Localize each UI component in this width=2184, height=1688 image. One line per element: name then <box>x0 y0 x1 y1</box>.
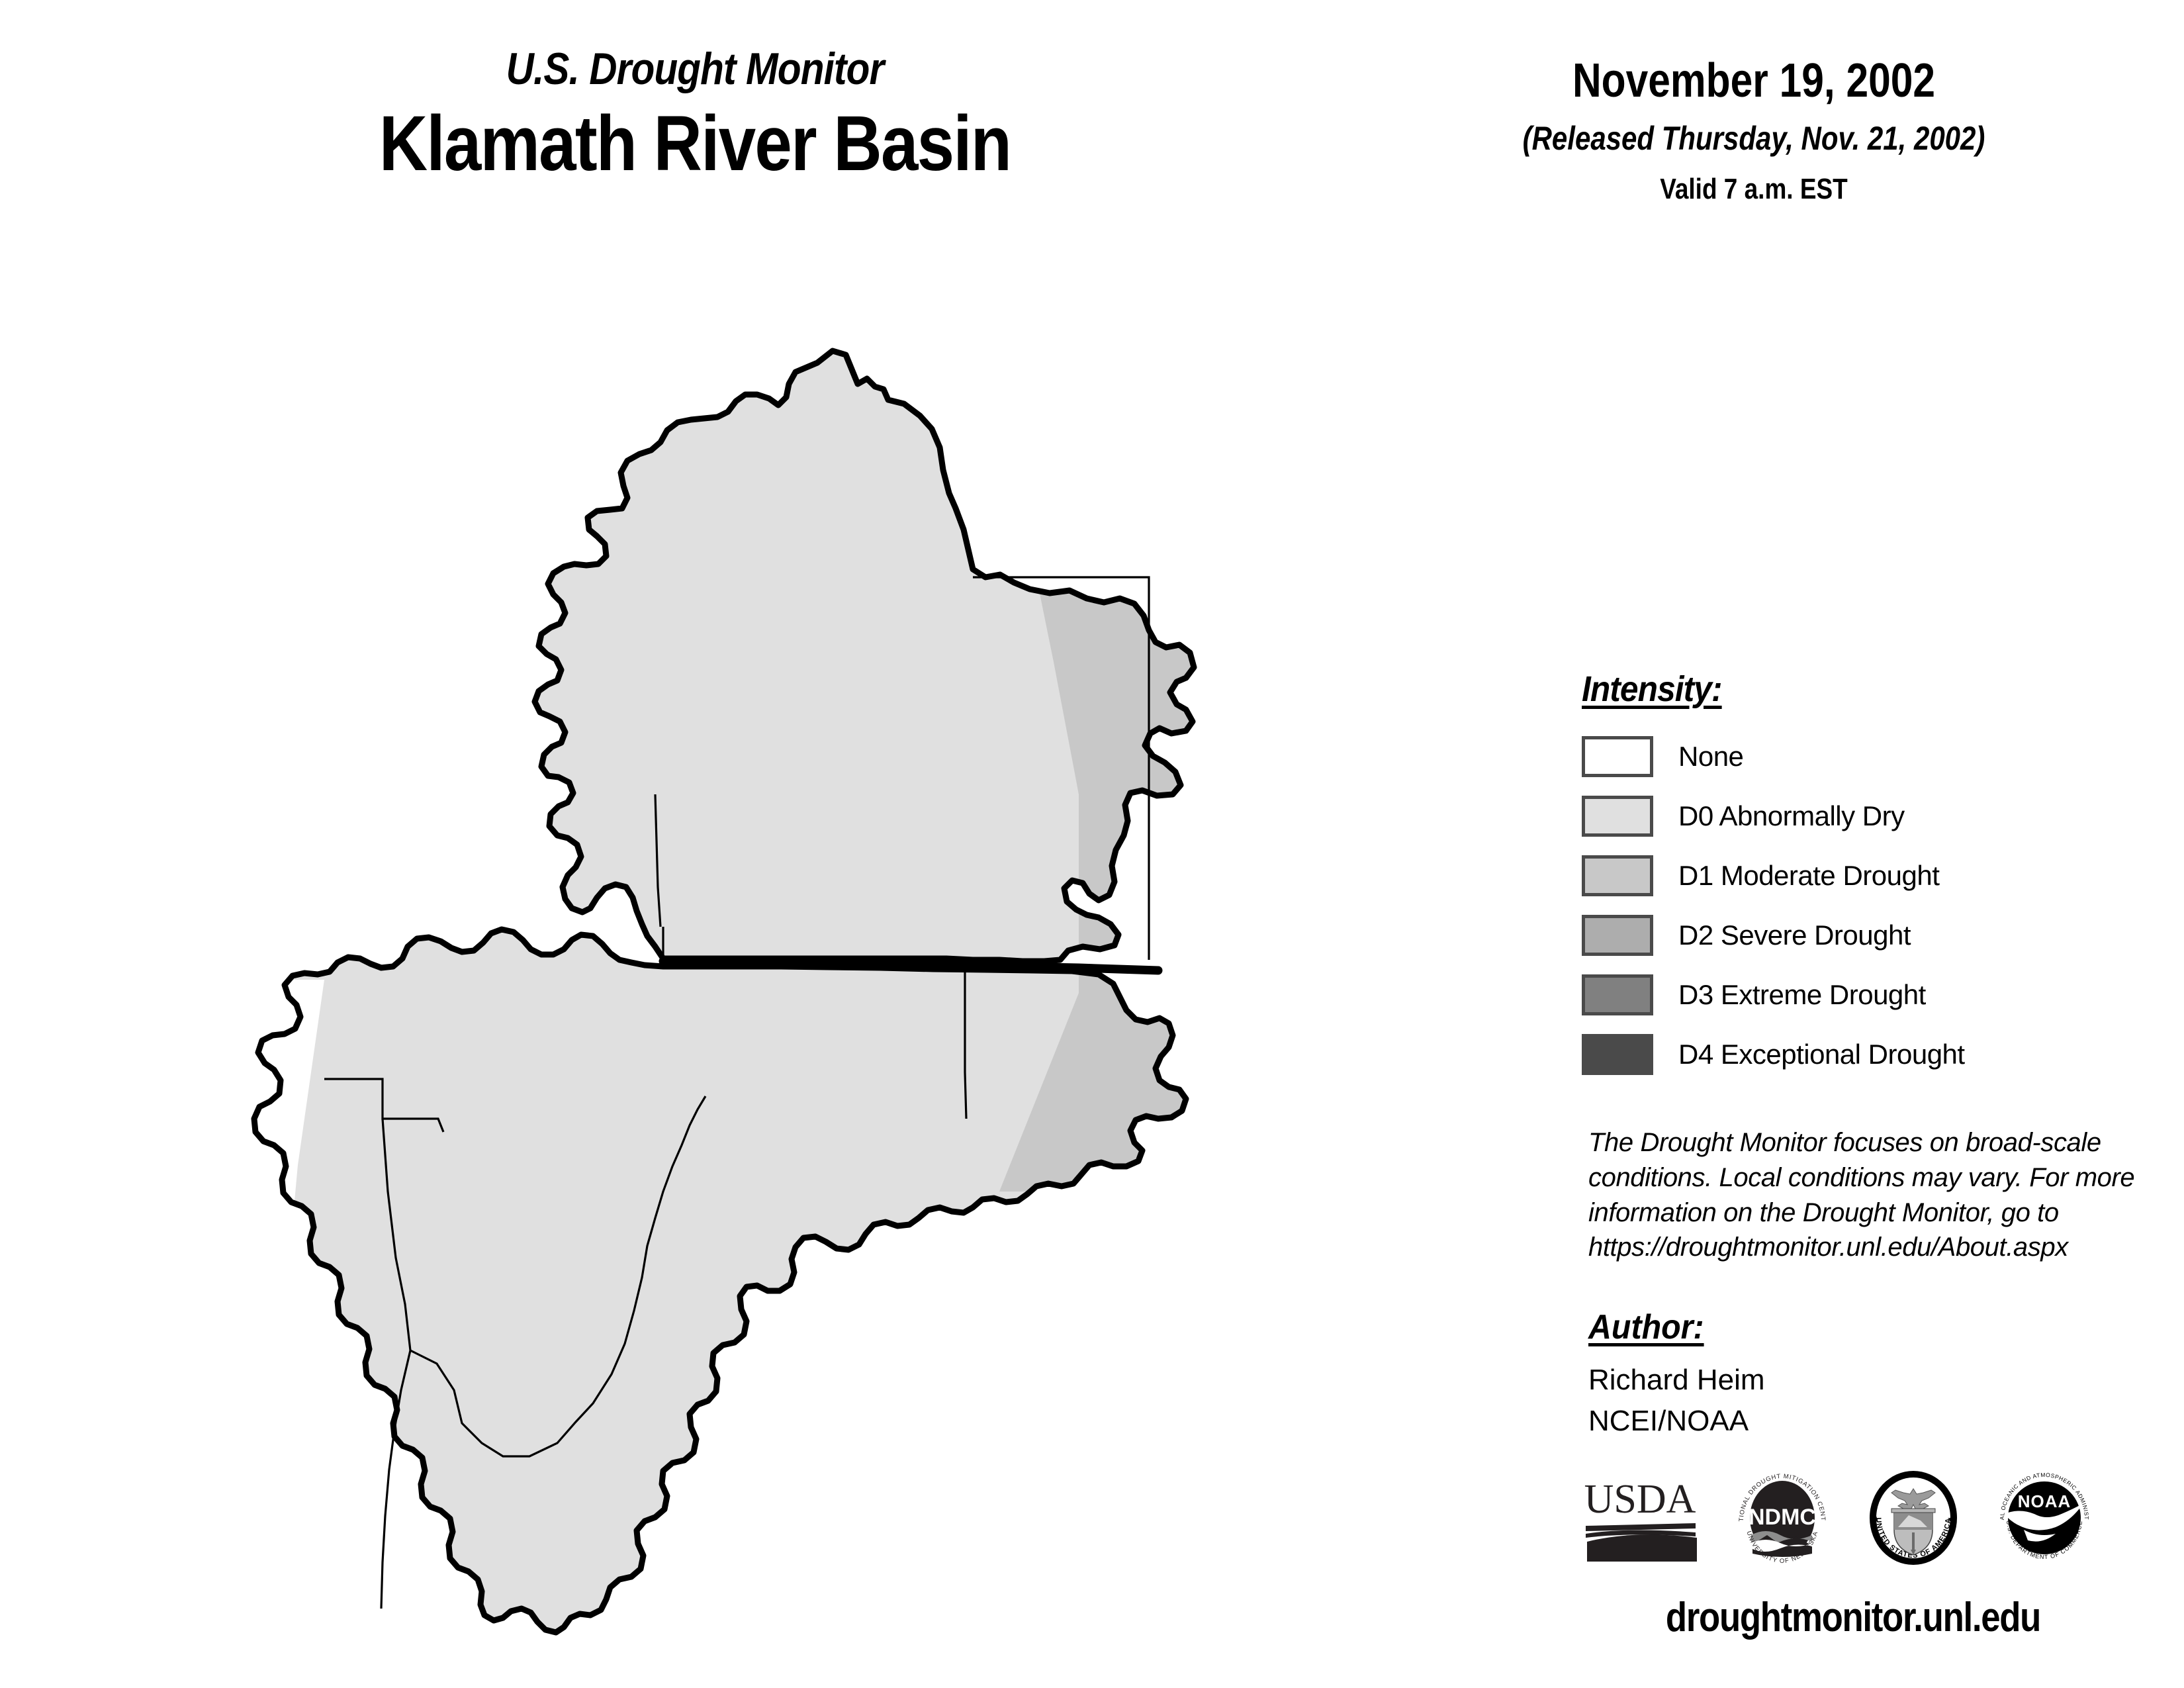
swatch-d4 <box>1582 1034 1653 1075</box>
drought-map[interactable] <box>218 331 1443 1648</box>
svg-text:USDA: USDA <box>1584 1477 1696 1522</box>
swatch-d2 <box>1582 915 1653 956</box>
swatch-d0 <box>1582 796 1653 837</box>
svg-text:NDMC: NDMC <box>1749 1505 1816 1530</box>
noaa-logo[interactable]: NOAA NATIONAL OCEANIC AND ATMOSPHERIC AD… <box>1995 1466 2094 1572</box>
legend-row-d0[interactable]: D0 Abnormally Dry <box>1582 786 2098 846</box>
legend-row-d4[interactable]: D4 Exceptional Drought <box>1582 1025 2098 1084</box>
ndmc-logo-icon: NDMC NATIONAL DROUGHT MITIGATION CENTER … <box>1733 1466 1832 1569</box>
legend: Intensity: None D0 Abnormally Dry D1 Mod… <box>1582 669 2098 1084</box>
legend-label-d0: D0 Abnormally Dry <box>1678 800 1905 832</box>
release-date: November 19, 2002 <box>1476 57 2032 105</box>
legend-row-d2[interactable]: D2 Severe Drought <box>1582 906 2098 965</box>
legend-label-d4: D4 Exceptional Drought <box>1678 1039 1965 1070</box>
svg-text:★: ★ <box>1947 1514 1955 1524</box>
usda-logo[interactable]: USDA <box>1582 1472 1701 1568</box>
date-block: November 19, 2002 (Released Thursday, No… <box>1423 57 2085 204</box>
disclaimer-line-2: conditions. Local conditions may vary. F… <box>1588 1160 2184 1196</box>
author-name: Richard Heim <box>1588 1362 2118 1399</box>
department-of-commerce-logo-icon: DEPARTMENT OF COMMERCE UNITED STATES OF … <box>1864 1466 1963 1569</box>
klamath-basin-map-svg[interactable] <box>218 331 1443 1648</box>
author-affiliation: NCEI/NOAA <box>1588 1403 2118 1440</box>
legend-label-d1: D1 Moderate Drought <box>1678 860 1939 892</box>
swatch-none <box>1582 736 1653 777</box>
author-block: Author: Richard Heim NCEI/NOAA <box>1588 1307 2118 1440</box>
svg-text:★: ★ <box>1872 1514 1880 1524</box>
legend-title: Intensity: <box>1582 669 1722 710</box>
usda-logo-icon: USDA <box>1582 1472 1701 1564</box>
disclaimer-text: The Drought Monitor focuses on broad-sca… <box>1588 1125 2184 1265</box>
disclaimer-line-3: information on the Drought Monitor, go t… <box>1588 1196 2184 1231</box>
legend-row-d1[interactable]: D1 Moderate Drought <box>1582 846 2098 906</box>
ndmc-logo[interactable]: NDMC NATIONAL DROUGHT MITIGATION CENTER … <box>1733 1466 1832 1572</box>
author-heading: Author: <box>1588 1307 1704 1347</box>
legend-label-d3: D3 Extreme Drought <box>1678 979 1926 1011</box>
legend-row-none[interactable]: None <box>1582 727 2098 786</box>
valid-time: Valid 7 a.m. EST <box>1476 175 2032 204</box>
partner-logos: USDA NDMC NATIONAL DROUGHT MITIGATION CE… <box>1582 1453 2111 1585</box>
title-block: U.S. Drought Monitor Klamath River Basin <box>199 46 1191 185</box>
swatch-d1 <box>1582 855 1653 896</box>
disclaimer-link[interactable]: https://droughtmonitor.unl.edu/About.asp… <box>1588 1230 2184 1265</box>
swatch-d3 <box>1582 974 1653 1015</box>
none-coastal-strip <box>218 980 324 1648</box>
release-note: (Released Thursday, Nov. 21, 2002) <box>1476 122 2032 155</box>
legend-row-d3[interactable]: D3 Extreme Drought <box>1582 965 2098 1025</box>
disclaimer-line-1: The Drought Monitor focuses on broad-sca… <box>1588 1125 2184 1160</box>
legend-label-none: None <box>1678 741 1743 773</box>
svg-text:NOAA: NOAA <box>2018 1491 2071 1511</box>
page-title: Klamath River Basin <box>268 103 1122 185</box>
legend-label-d2: D2 Severe Drought <box>1678 919 1911 951</box>
doc-logo[interactable]: DEPARTMENT OF COMMERCE UNITED STATES OF … <box>1864 1466 1963 1572</box>
footer-url[interactable]: droughtmonitor.unl.edu <box>1623 1594 2084 1641</box>
drought-monitor-supertitle: U.S. Drought Monitor <box>268 46 1122 91</box>
noaa-logo-icon: NOAA NATIONAL OCEANIC AND ATMOSPHERIC AD… <box>1995 1466 2094 1569</box>
